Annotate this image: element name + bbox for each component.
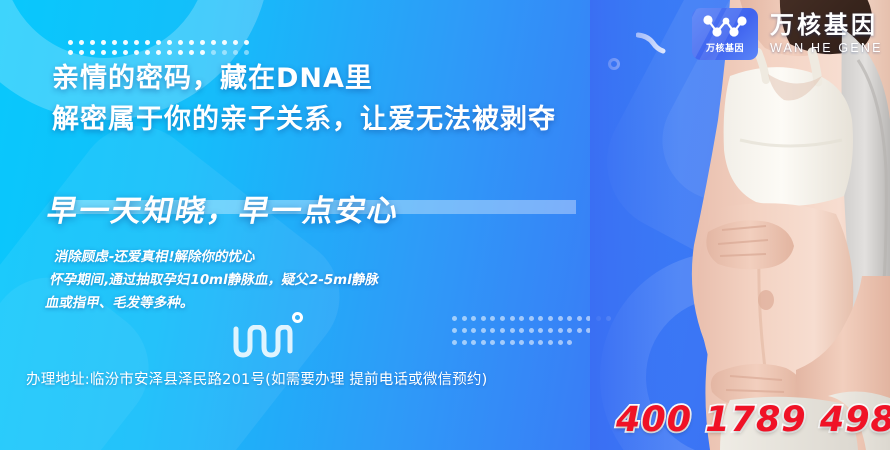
dot [500, 340, 505, 345]
dot [538, 328, 543, 333]
dot [577, 316, 582, 321]
logo-wordmark: 万核基因 WAN HE GENE [770, 13, 883, 55]
dot [452, 340, 457, 345]
promo-banner: 万核基因 万核基因 WAN HE GENE 亲情的密码，藏在DNA里 解密属于你… [0, 0, 890, 450]
dot [156, 50, 161, 55]
dot [68, 40, 73, 45]
slogan-text: 早一天知晓，早一点安心 [44, 186, 405, 230]
headline: 亲情的密码，藏在DNA里 解密属于你的亲子关系，让爱无法被剥夺 [52, 62, 556, 137]
dot [189, 50, 194, 55]
dot [68, 50, 73, 55]
brand-logo: 万核基因 万核基因 WAN HE GENE [692, 8, 883, 60]
dot [519, 328, 524, 333]
dot [519, 316, 524, 321]
logo-mark-label: 万核基因 [706, 41, 744, 54]
dot [481, 340, 486, 345]
dot [178, 50, 183, 55]
dot [145, 50, 150, 55]
address-text: 办理地址:临汾市安泽县泽民路201号(如需要办理 提前电话或微信预约) [26, 368, 487, 389]
dot [471, 316, 476, 321]
dot [222, 50, 227, 55]
dot [211, 40, 216, 45]
dot [244, 50, 249, 55]
dot [567, 316, 572, 321]
dot [558, 316, 563, 321]
logo-name-en: WAN HE GENE [770, 42, 883, 55]
dot [178, 40, 183, 45]
dot [200, 50, 205, 55]
dot [548, 340, 553, 345]
dot [538, 340, 543, 345]
dot [548, 328, 553, 333]
dot [558, 328, 563, 333]
dot [167, 40, 172, 45]
dot [112, 50, 117, 55]
dot [548, 316, 553, 321]
dot [490, 340, 495, 345]
subtext-line-3: 血或指甲、毛发等多种。 [43, 292, 376, 315]
dot [481, 316, 486, 321]
dot [558, 340, 563, 345]
dot [471, 340, 476, 345]
dot [233, 50, 238, 55]
molecule-icon [701, 14, 749, 40]
photo-edge-fade [590, 0, 680, 450]
dot [244, 40, 249, 45]
dot [500, 328, 505, 333]
decorative-dot-grid-top [68, 40, 255, 60]
logo-name-cn: 万核基因 [770, 13, 883, 37]
pregnant-woman-photo [590, 0, 890, 450]
subtext-line-2: 怀孕期间,通过抽取孕妇10ml静脉血，疑父2-5ml静脉 [48, 269, 381, 292]
dot [529, 328, 534, 333]
dot [510, 316, 515, 321]
dot [79, 50, 84, 55]
dot [567, 340, 572, 345]
dot [90, 50, 95, 55]
dot [538, 316, 543, 321]
dot [462, 328, 467, 333]
dot [529, 340, 534, 345]
dot [156, 40, 161, 45]
dot [462, 316, 467, 321]
dot [123, 50, 128, 55]
slogan-block: 早一天知晓，早一点安心 [48, 186, 400, 230]
headline-line-1: 亲情的密码，藏在DNA里 [52, 62, 556, 97]
dot [90, 40, 95, 45]
dot [79, 40, 84, 45]
dot [567, 328, 572, 333]
dot [167, 50, 172, 55]
dot [134, 50, 139, 55]
headline-line-2: 解密属于你的亲子关系，让爱无法被剥夺 [52, 103, 556, 138]
dot [112, 40, 117, 45]
dot [481, 328, 486, 333]
dot [101, 50, 106, 55]
dot [519, 340, 524, 345]
dot [189, 40, 194, 45]
dot [577, 328, 582, 333]
dot [452, 328, 457, 333]
dot [510, 340, 515, 345]
dot [211, 50, 216, 55]
logo-mark: 万核基因 [692, 8, 758, 60]
dot [490, 316, 495, 321]
dot [529, 316, 534, 321]
dot [471, 328, 476, 333]
dot [101, 40, 106, 45]
dot [490, 328, 495, 333]
phone-number[interactable]: 400 1789 498 [616, 400, 890, 440]
dot [134, 40, 139, 45]
dot [222, 40, 227, 45]
decorative-wave-icon [232, 325, 294, 359]
subtext-block: 消除顾虑-还爱真相!解除你的忧心 怀孕期间,通过抽取孕妇10ml静脉血，疑父2-… [43, 246, 385, 316]
dot [510, 328, 515, 333]
subtext-line-1: 消除顾虑-还爱真相!解除你的忧心 [52, 246, 385, 269]
dot [500, 316, 505, 321]
dot [462, 340, 467, 345]
dot [123, 40, 128, 45]
dot [233, 40, 238, 45]
dot [452, 316, 457, 321]
dot [200, 40, 205, 45]
dot [145, 40, 150, 45]
